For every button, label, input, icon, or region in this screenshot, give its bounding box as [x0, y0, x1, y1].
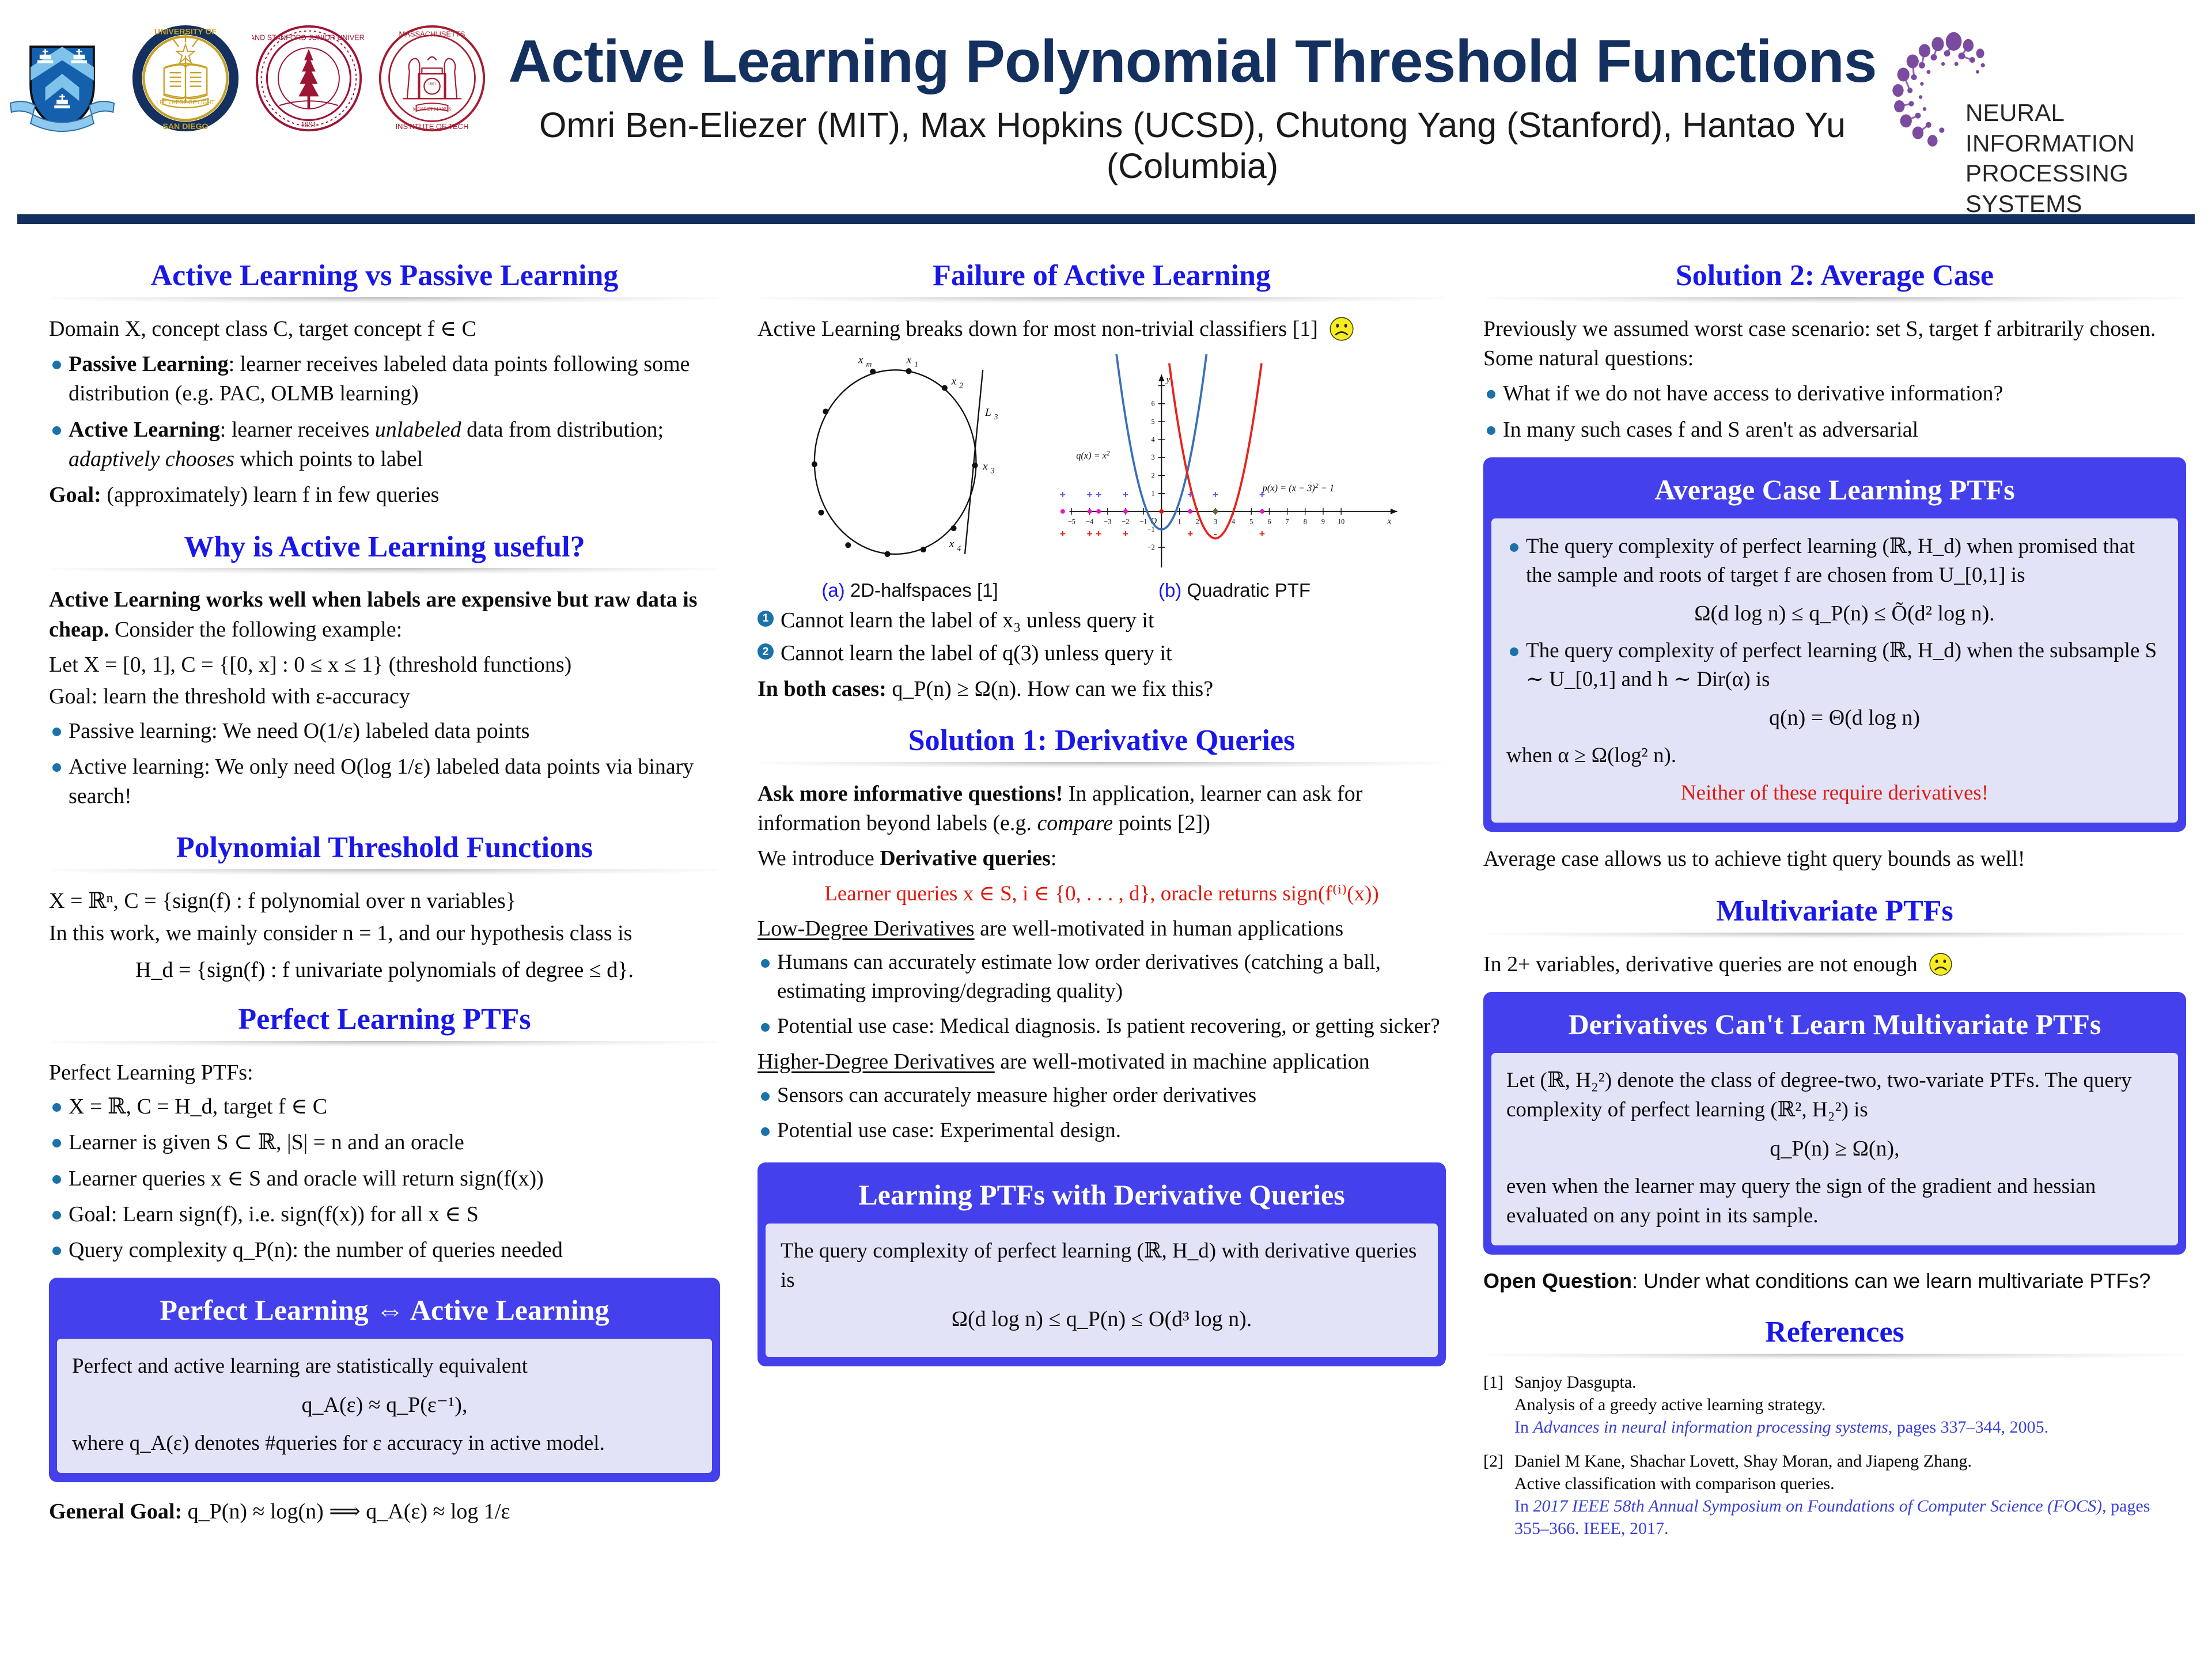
list-item: Active Learning: learner receives unlabe…: [49, 415, 720, 475]
svg-text:3: 3: [990, 467, 995, 475]
svg-text:1: 1: [914, 360, 918, 369]
ref-venue-italic: Advances in neural information processin…: [1533, 1418, 1888, 1437]
svg-text:MENS ET MANUS: MENS ET MANUS: [413, 107, 452, 112]
svg-text:−5: −5: [1068, 517, 1075, 525]
halfspaces-diagram: xm x1 x2 x3 x4 L3: [790, 354, 1029, 573]
figure-a-tag: (a): [821, 579, 844, 601]
svg-text:1: 1: [1177, 517, 1181, 525]
svg-text:5: 5: [1152, 418, 1155, 426]
multivariate-lead-text: In 2+ variables, derivative queries are …: [1483, 952, 1918, 976]
svg-text:x: x: [949, 538, 955, 550]
svg-text:LET THERE BE LIGHT: LET THERE BE LIGHT: [157, 100, 215, 106]
box-line1: The query complexity of perfect learning…: [781, 1236, 1423, 1295]
figure-b-caption: (b) Quadratic PTF: [1056, 579, 1413, 601]
ucsd-seal-icon: LET THERE BE LIGHT UNIVERSITY OF SAN DIE…: [129, 22, 242, 135]
section-heading-perfect-learning: Perfect Learning PTFs: [49, 1002, 720, 1037]
accuracy-goal-line: Goal: learn the threshold with ε-accurac…: [49, 682, 720, 711]
svg-text:3: 3: [1152, 453, 1155, 461]
svg-text:3: 3: [1214, 517, 1217, 525]
why-active-bullets: Passive learning: We need O(1/ε) labeled…: [49, 717, 720, 812]
svg-text:−1: −1: [1147, 525, 1155, 533]
average-case-lead: Previously we assumed worst case scenari…: [1483, 315, 2186, 374]
list-item: Humans can accurately estimate low order…: [757, 948, 1446, 1006]
failure-lead-text: Active Learning breaks down for most non…: [757, 317, 1318, 341]
ask-more-line: Ask more informative questions! In appli…: [757, 779, 1446, 839]
title-block: Active Learning Polynomial Threshold Fun…: [495, 29, 1889, 186]
poster-header: LET THERE BE LIGHT UNIVERSITY OF SAN DIE…: [0, 0, 2212, 214]
list-item: Potential use case: Experimental design.: [757, 1116, 1446, 1145]
ptf-hypothesis-equation: H_d = {sign(f) : f univariate polynomial…: [49, 957, 720, 983]
box-line1: Perfect and active learning are statisti…: [72, 1351, 697, 1381]
goal-label: Goal:: [49, 483, 101, 507]
svg-text:+: +: [1187, 528, 1193, 540]
result-1-equation: Ω(d log n) ≤ q_P(n) ≤ Õ(d² log n).: [1526, 599, 2163, 628]
ref-title: Active classification with comparison qu…: [1514, 1472, 2186, 1495]
frowning-face-icon: [1929, 952, 1953, 976]
svg-text:4: 4: [957, 544, 961, 552]
neurips-wordmark: NEURAL INFORMATION PROCESSING SYSTEMS: [1965, 98, 2202, 219]
svg-text:+: +: [1060, 489, 1066, 501]
list-item: Passive learning: We need O(1/ε) labeled…: [49, 717, 720, 746]
svg-text:y: y: [1165, 375, 1171, 385]
box-line1: Let (ℝ, H₂²) denote the class of degree-…: [1506, 1066, 2163, 1124]
section-heading-failure: Failure of Active Learning: [757, 259, 1446, 293]
frowning-face-icon: [1329, 316, 1354, 342]
svg-text:L: L: [984, 407, 991, 419]
failure-lead: Active Learning breaks down for most non…: [757, 315, 1446, 344]
result-1-text: The query complexity of perfect learning…: [1526, 535, 2135, 587]
figure-a-text: 2D-halfspaces [1]: [850, 579, 998, 601]
svg-text:8: 8: [1304, 517, 1307, 525]
introduce-bold: Derivative queries: [880, 846, 1051, 870]
svg-text:6: 6: [1152, 400, 1155, 408]
both-cases-line: In both cases: q_P(n) ≥ Ω(n). How can we…: [757, 675, 1446, 704]
open-question-label: Open Question: [1483, 1269, 1632, 1293]
ref-venue-pre: In: [1514, 1418, 1533, 1437]
section-heading-solution-1: Solution 1: Derivative Queries: [757, 724, 1446, 758]
ref-number: [2]: [1483, 1450, 1503, 1472]
series-label-q: q(x) = x2: [1076, 449, 1110, 461]
average-case-questions: What if we do not have access to derivat…: [1483, 379, 2186, 445]
svg-text:5: 5: [1249, 517, 1253, 525]
section-rule: [1486, 1354, 2184, 1359]
list-number: 1: [757, 611, 774, 627]
list-item: Goal: Learn sign(f), i.e. sign(f(x)) for…: [49, 1200, 720, 1229]
svg-text:7: 7: [1286, 517, 1289, 525]
svg-text:−1: −1: [1140, 517, 1147, 525]
svg-text:+: +: [1187, 489, 1193, 501]
series-label-p: p(x) = (x − 3)2 − 1: [1262, 482, 1334, 494]
figure-2d-halfspaces: xm x1 x2 x3 x4 L3 (a) 2D-halfspaces [1]: [790, 354, 1029, 601]
low-degree-underlined: Low-Degree Derivatives: [757, 916, 975, 941]
high-degree-underlined: Higher-Degree Derivatives: [757, 1050, 995, 1074]
svg-text:+: +: [1213, 489, 1218, 501]
svg-text:+: +: [1060, 528, 1066, 540]
stanford-seal-icon: LELAND STANFORD JUNIOR UNIVERSITY 1891: [252, 22, 365, 135]
svg-text:9: 9: [1321, 517, 1325, 525]
perfect-learning-bullets: X = ℝ, C = H_d, target f ∈ C Learner is …: [49, 1092, 720, 1265]
domain-line: Domain X, concept class C, target concep…: [49, 315, 720, 344]
svg-text:MASSACHUSETTS: MASSACHUSETTS: [399, 29, 465, 38]
open-question-text: : Under what conditions can we learn mul…: [1632, 1269, 2150, 1293]
list-item: Active learning: We only need O(log 1/ε)…: [49, 752, 720, 812]
svg-text:-: -: [1214, 528, 1217, 540]
multivariate-lead: In 2+ variables, derivative queries are …: [1483, 950, 2186, 979]
svg-text:x: x: [982, 461, 988, 473]
section-rule: [1486, 297, 2184, 303]
section-heading-references: References: [1483, 1315, 2186, 1350]
page-title: Active Learning Polynomial Threshold Fun…: [495, 29, 1889, 94]
svg-text:x: x: [1387, 516, 1391, 526]
header-divider: [17, 214, 2195, 224]
ref-authors: Daniel M Kane, Shachar Lovett, Shay Mora…: [1514, 1450, 2186, 1472]
figure-a-caption: (a) 2D-halfspaces [1]: [790, 579, 1029, 601]
column-1: Active Learning vs Passive Learning Doma…: [0, 239, 743, 1650]
list-item: [2] Daniel M Kane, Shachar Lovett, Shay …: [1483, 1450, 2186, 1540]
section-heading-ptf: Polynomial Threshold Functions: [49, 831, 720, 865]
introduce-line: We introduce Derivative queries:: [757, 844, 1446, 873]
introduce-pre: We introduce: [757, 846, 874, 870]
list-item: The query complexity of perfect learning…: [1506, 637, 2163, 733]
box-equation: q_P(n) ≥ Ω(n),: [1506, 1134, 2163, 1164]
perfect-learning-intro: Perfect Learning PTFs:: [49, 1058, 720, 1088]
section-heading-why-active: Why is Active Learning useful?: [49, 530, 720, 565]
ptf-line2: In this work, we mainly consider n = 1, …: [49, 919, 720, 948]
theorem-box-perfect-equiv-active: Perfect Learning ⇔ Active Learning Perfe…: [49, 1278, 720, 1482]
list-item: X = ℝ, C = H_d, target f ∈ C: [49, 1092, 720, 1122]
ref-authors: Sanjoy Dasgupta.: [1514, 1371, 2186, 1393]
high-degree-heading: Higher-Degree Derivatives are well-motiv…: [757, 1047, 1446, 1077]
list-item: The query complexity of perfect learning…: [1506, 532, 2163, 628]
svg-text:UNIVERSITY OF: UNIVERSITY OF: [154, 27, 217, 36]
theorem-box-learning-ptfs-derivative: Learning PTFs with Derivative Queries Th…: [757, 1162, 1446, 1367]
goal-text: (approximately) learn f in few queries: [107, 483, 439, 507]
box-body: The query complexity of perfect learning…: [766, 1224, 1438, 1358]
section-rule: [760, 297, 1444, 303]
svg-text:x: x: [906, 354, 912, 366]
svg-text:2: 2: [1152, 471, 1155, 479]
no-derivatives-note: Neither of these require derivatives!: [1506, 778, 2163, 808]
svg-text:−4: −4: [1086, 517, 1093, 525]
svg-text:+: +: [1086, 528, 1092, 540]
svg-text:−2: −2: [1122, 517, 1130, 525]
derivative-query-definition: Learner queries x ∈ S, i ∈ {0, . . . , d…: [757, 880, 1446, 908]
list-text: Cannot learn the label of x₃ unless quer…: [781, 608, 1154, 632]
ref-venue-pre: In: [1514, 1497, 1533, 1516]
ref-venue: In 2017 IEEE 58th Annual Symposium on Fo…: [1514, 1495, 2186, 1540]
box-body: Perfect and active learning are statisti…: [57, 1339, 712, 1473]
theorem-box-average-case: Average Case Learning PTFs The query com…: [1483, 457, 2186, 832]
svg-text:2: 2: [1196, 517, 1199, 525]
list-text: Cannot learn the label of q(3) unless qu…: [781, 641, 1172, 665]
general-goal-label: General Goal:: [49, 1499, 182, 1524]
section-rule: [51, 1041, 718, 1047]
active-vs-passive-bullets: Passive Learning: learner receives label…: [49, 350, 720, 474]
svg-text:+: +: [1086, 489, 1092, 501]
column-3: Solution 2: Average Case Previously we a…: [1466, 239, 2212, 1650]
open-question-line: Open Question: Under what conditions can…: [1483, 1267, 2186, 1296]
ask-more-bold: Ask more informative questions!: [757, 782, 1063, 806]
list-item: [1] Sanjoy Dasgupta. Analysis of a greed…: [1483, 1371, 2186, 1438]
list-item: Sensors can accurately measure higher or…: [757, 1081, 1446, 1110]
svg-text:1891: 1891: [301, 120, 317, 128]
list-item: 1Cannot learn the label of x₃ unless que…: [757, 606, 1446, 635]
quadratic-ptf-chart: −5−4−3 −2−1 123 456 789 10 O x y: [1056, 354, 1413, 573]
list-item: Learner is given S ⊂ ℝ, |S| = n and an o…: [49, 1128, 720, 1157]
list-item: Passive Learning: learner receives label…: [49, 350, 720, 409]
box-equation: Ω(d log n) ≤ q_P(n) ≤ O(d³ log n).: [781, 1304, 1423, 1334]
ref-venue-post: , pages 337–344, 2005.: [1888, 1418, 2048, 1437]
average-case-summary: Average case allows us to achieve tight …: [1483, 844, 2186, 874]
reference-list: [1] Sanjoy Dasgupta. Analysis of a greed…: [1483, 1371, 2186, 1540]
figure-b-text: Quadratic PTF: [1187, 579, 1310, 601]
section-heading-solution-2: Solution 2: Average Case: [1483, 259, 2186, 293]
box-body: The query complexity of perfect learning…: [1491, 518, 2178, 823]
svg-text:LELAND STANFORD JUNIOR UNIVERS: LELAND STANFORD JUNIOR UNIVERSITY: [252, 33, 365, 41]
high-degree-rest: are well-motivated in machine applicatio…: [1000, 1050, 1370, 1074]
svg-text:3: 3: [994, 412, 998, 421]
section-rule: [51, 869, 718, 875]
result-2-text: The query complexity of perfect learning…: [1526, 639, 2157, 691]
box-title: Average Case Learning PTFs: [1491, 465, 2178, 518]
svg-text:x: x: [858, 354, 863, 366]
low-degree-heading: Low-Degree Derivatives are well-motivate…: [757, 914, 1446, 944]
ref-number: [1]: [1483, 1371, 1503, 1393]
svg-text:−3: −3: [1104, 517, 1111, 525]
svg-text:+: +: [1096, 528, 1101, 540]
section-rule: [51, 568, 718, 574]
high-degree-bullets: Sensors can accurately measure higher or…: [757, 1081, 1446, 1145]
figure-b-tag: (b): [1158, 579, 1181, 601]
section-heading-multivariate: Multivariate PTFs: [1483, 894, 2186, 929]
svg-text:SAN DIEGO: SAN DIEGO: [162, 122, 208, 131]
ref-title: Analysis of a greedy active learning str…: [1514, 1393, 2186, 1416]
svg-text:1861: 1861: [428, 82, 437, 86]
svg-text:2: 2: [959, 381, 963, 390]
svg-text:+: +: [1123, 528, 1128, 540]
box-body: Let (ℝ, H₂²) denote the class of degree-…: [1491, 1053, 2178, 1246]
neurips-logo: NEURAL INFORMATION PROCESSING SYSTEMS: [1885, 24, 2202, 157]
neurips-line2: PROCESSING SYSTEMS: [1965, 158, 2202, 219]
author-list: Omri Ben-Eliezer (MIT), Max Hopkins (UCS…: [495, 105, 1889, 185]
result-2-equation: q(n) = Θ(d log n): [1526, 703, 2163, 733]
svg-text:6: 6: [1267, 517, 1271, 525]
list-item: What if we do not have access to derivat…: [1483, 379, 2186, 408]
failure-figures: xm x1 x2 x3 x4 L3 (a) 2D-halfspaces [1]: [757, 354, 1446, 601]
svg-text:INSTITUTE OF TECH: INSTITUTE OF TECH: [396, 122, 469, 131]
box-title: Learning PTFs with Derivative Queries: [766, 1171, 1438, 1224]
list-number: 2: [757, 643, 774, 660]
alpha-condition: when α ≥ Ω(log² n).: [1506, 741, 2163, 770]
section-rule: [760, 762, 1444, 768]
list-item: In many such cases f and S aren't as adv…: [1483, 415, 2186, 445]
university-logos: LET THERE BE LIGHT UNIVERSITY OF SAN DIE…: [6, 22, 488, 135]
general-goal-line: General Goal: q_P(n) ≈ log(n) ⟹ q_A(ε) ≈…: [49, 1497, 720, 1527]
both-cases-text: q_P(n) ≥ Ω(n). How can we fix this?: [892, 677, 1213, 701]
column-2: Failure of Active Learning Active Learni…: [743, 239, 1466, 1650]
box-title: Perfect Learning ⇔ Active Learning: [57, 1286, 712, 1339]
figure-quadratic-ptf: −5−4−3 −2−1 123 456 789 10 O x y: [1056, 354, 1413, 601]
box-line2: where q_A(ε) denotes #queries for ε accu…: [72, 1429, 697, 1458]
let-line: Let X = [0, 1], C = {[0, x] : 0 ≤ x ≤ 1}…: [49, 650, 720, 680]
svg-text:10: 10: [1338, 517, 1344, 525]
box-title: Derivatives Can't Learn Multivariate PTF…: [1491, 1000, 2178, 1053]
section-rule: [1486, 933, 2184, 938]
both-cases-label: In both cases:: [757, 677, 887, 701]
general-goal-equation: q_P(n) ≈ log(n) ⟹ q_A(ε) ≈ log 1/ε: [188, 1499, 510, 1524]
svg-text:+: +: [1096, 489, 1101, 501]
theorem-box-multivariate: Derivatives Can't Learn Multivariate PTF…: [1483, 992, 2186, 1255]
low-degree-rest: are well-motivated in human applications: [980, 916, 1343, 941]
box-line2: even when the learner may query the sign…: [1506, 1172, 2163, 1230]
why-active-lead: Active Learning works well when labels a…: [49, 585, 720, 645]
svg-text:+: +: [1259, 528, 1265, 540]
list-item: 2Cannot learn the label of q(3) unless q…: [757, 639, 1446, 668]
svg-text:4: 4: [1232, 517, 1235, 525]
introduce-post: :: [1051, 846, 1057, 870]
low-degree-bullets: Humans can accurately estimate low order…: [757, 948, 1446, 1041]
svg-text:x: x: [951, 376, 957, 388]
svg-text:+: +: [1123, 489, 1128, 501]
mit-seal-icon: 1861 MENS ET MANUS MASSACHUSETTS INSTITU…: [376, 22, 488, 135]
columbia-seal-icon: [6, 22, 119, 135]
failure-numbered-list: 1Cannot learn the label of x₃ unless que…: [757, 606, 1446, 669]
neurips-line1: NEURAL INFORMATION: [1965, 98, 2202, 158]
why-active-lead-rest: Consider the following example:: [115, 618, 402, 642]
svg-text:4: 4: [1152, 435, 1155, 444]
box-equation: q_A(ε) ≈ q_P(ε⁻¹),: [72, 1390, 697, 1420]
goal-line: Goal: (approximately) learn f in few que…: [49, 480, 720, 510]
ptf-line1: X = ℝⁿ, C = {sign(f) : f polynomial over…: [49, 887, 720, 916]
list-item: Query complexity q_P(n): the number of q…: [49, 1236, 720, 1265]
section-heading-active-vs-passive: Active Learning vs Passive Learning: [49, 259, 720, 293]
ref-venue: In Advances in neural information proces…: [1514, 1416, 2186, 1438]
ref-venue-italic: 2017 IEEE 58th Annual Symposium on Found…: [1533, 1497, 2103, 1516]
svg-text:1: 1: [1152, 490, 1155, 498]
svg-text:−2: −2: [1147, 543, 1155, 551]
list-item: Learner queries x ∈ S and oracle will re…: [49, 1164, 720, 1194]
list-item: Potential use case: Medical diagnosis. I…: [757, 1012, 1446, 1041]
poster-root: LET THERE BE LIGHT UNIVERSITY OF SAN DIE…: [0, 0, 2212, 1659]
poster-columns: Active Learning vs Passive Learning Doma…: [0, 239, 2212, 1650]
average-case-results: The query complexity of perfect learning…: [1506, 532, 2163, 733]
svg-text:m: m: [866, 360, 872, 369]
section-rule: [51, 297, 718, 303]
